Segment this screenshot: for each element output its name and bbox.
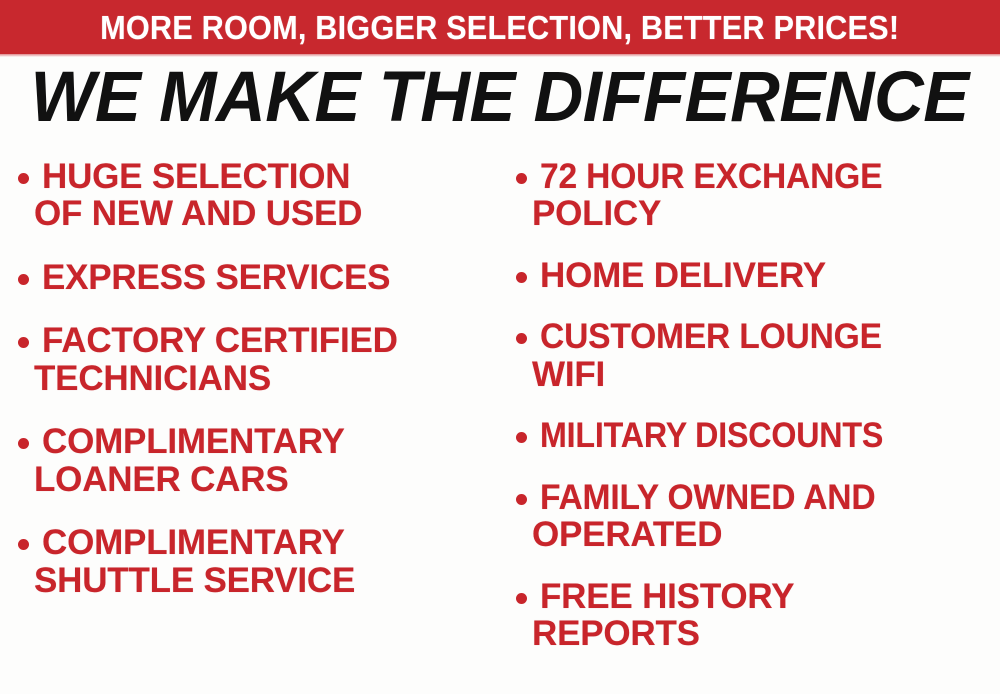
list-item: CUSTOMER LOUNGE WIFI [516, 318, 998, 393]
list-item-text: COMPLIMENTARY LOANER CARS [42, 423, 494, 498]
bullet-dot-icon [516, 593, 527, 604]
list-item-line: TECHNICIANS [34, 360, 494, 397]
list-item: COMPLIMENTARY LOANER CARS [18, 423, 494, 498]
list-item: 72 HOUR EXCHANGE POLICY [516, 158, 998, 233]
list-item: MILITARY DISCOUNTS [516, 417, 998, 454]
list-item-line: HUGE SELECTION [42, 158, 494, 195]
list-item: FREE HISTORY REPORTS [516, 578, 998, 653]
list-item-text: COMPLIMENTARY SHUTTLE SERVICE [42, 524, 494, 599]
promo-banner-text: MORE ROOM, BIGGER SELECTION, BETTER PRIC… [100, 11, 899, 44]
list-item-line: FAMILY OWNED AND [540, 479, 875, 516]
bullet-dot-icon [18, 337, 29, 348]
headline: WE MAKE THE DIFFERENCE [0, 62, 1000, 133]
list-item-line: OPERATED [532, 516, 998, 553]
list-item-line: LOANER CARS [34, 461, 494, 498]
list-item-line: 72 HOUR EXCHANGE [540, 158, 882, 195]
list-item-text: CUSTOMER LOUNGE WIFI [540, 318, 998, 393]
list-item-text: FACTORY CERTIFIED TECHNICIANS [42, 322, 494, 397]
list-item-line: FREE HISTORY [540, 578, 998, 615]
list-item: HOME DELIVERY [516, 257, 998, 294]
list-item-line: POLICY [532, 195, 998, 232]
list-item-line: REPORTS [532, 615, 998, 652]
list-item-text: HUGE SELECTION OF NEW AND USED [42, 158, 494, 233]
list-item-line: CUSTOMER LOUNGE [540, 318, 882, 355]
feature-column-right: 72 HOUR EXCHANGE POLICY HOME DELIVERY CU… [500, 158, 1000, 676]
list-item-line: HOME DELIVERY [540, 257, 998, 294]
bullet-dot-icon [18, 274, 29, 285]
bullet-dot-icon [516, 272, 527, 283]
list-item: HUGE SELECTION OF NEW AND USED [18, 158, 494, 233]
list-item: FAMILY OWNED AND OPERATED [516, 479, 998, 554]
list-item-text: HOME DELIVERY [540, 257, 998, 294]
bullet-dot-icon [516, 494, 527, 505]
feature-columns: HUGE SELECTION OF NEW AND USED EXPRESS S… [0, 158, 1000, 694]
list-item-line: OF NEW AND USED [34, 195, 494, 232]
list-item: EXPRESS SERVICES [18, 259, 494, 296]
list-item-line: MILITARY DISCOUNTS [540, 417, 883, 454]
list-item-text: 72 HOUR EXCHANGE POLICY [540, 158, 998, 233]
headline-text: WE MAKE THE DIFFERENCE [31, 62, 969, 133]
bullet-dot-icon [516, 432, 527, 443]
list-item-line: COMPLIMENTARY [42, 524, 494, 561]
list-item-line: SHUTTLE SERVICE [34, 562, 494, 599]
promo-banner: MORE ROOM, BIGGER SELECTION, BETTER PRIC… [0, 0, 1000, 54]
bullet-dot-icon [516, 173, 527, 184]
list-item-line: FACTORY CERTIFIED [42, 322, 494, 359]
bullet-dot-icon [516, 333, 527, 344]
list-item-text: EXPRESS SERVICES [42, 259, 494, 296]
list-item-text: FREE HISTORY REPORTS [540, 578, 998, 653]
bullet-dot-icon [18, 438, 29, 449]
list-item-line: EXPRESS SERVICES [42, 259, 494, 296]
bullet-dot-icon [18, 173, 29, 184]
feature-column-left: HUGE SELECTION OF NEW AND USED EXPRESS S… [0, 158, 500, 625]
list-item-line: COMPLIMENTARY [42, 423, 494, 460]
list-item: FACTORY CERTIFIED TECHNICIANS [18, 322, 494, 397]
list-item-text: FAMILY OWNED AND OPERATED [540, 479, 998, 554]
list-item-text: MILITARY DISCOUNTS [540, 417, 998, 454]
bullet-dot-icon [18, 539, 29, 550]
list-item-line: WIFI [532, 356, 998, 393]
banner-fade-divider [0, 54, 1000, 57]
list-item: COMPLIMENTARY SHUTTLE SERVICE [18, 524, 494, 599]
